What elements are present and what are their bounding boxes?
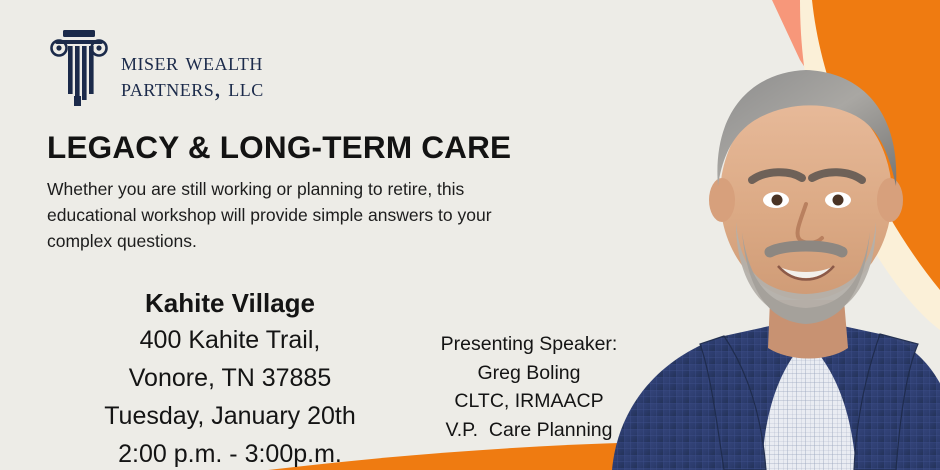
description-line-3: complex questions. [47,228,547,254]
speaker-block: Presenting Speaker: Greg Boling CLTC, IR… [404,330,654,444]
event-description: Whether you are still working or plannin… [47,176,547,254]
venue-block: Kahite Village 400 Kahite Trail, Vonore,… [40,285,420,470]
ear-right [877,178,903,222]
ionic-column-icon [47,26,111,108]
moustache [770,246,842,252]
venue-city-state-zip: Vonore, TN 37885 [40,359,420,397]
speaker-title: V.P. Care Planning [404,416,654,445]
brand-name-line1: Miser Wealth [121,49,264,75]
event-banner: Miser Wealth Partners, LLC LEGACY & LONG… [0,0,940,470]
speaker-name: Greg Boling [404,359,654,388]
ear-left [709,178,735,222]
brand-name-line2: Partners, LLC [121,75,264,101]
brand-wordmark: Miser Wealth Partners, LLC [121,33,264,101]
description-line-2: educational workshop will provide simple… [47,202,547,228]
pupil-right [833,195,844,206]
description-line-1: Whether you are still working or plannin… [47,176,547,202]
speaker-credentials: CLTC, IRMAACP [404,387,654,416]
brand-logo: Miser Wealth Partners, LLC [47,26,264,108]
event-time: 2:00 p.m. - 3:00p.m. [40,435,420,470]
pupil-left [772,195,783,206]
page-title: LEGACY & LONG-TERM CARE [47,129,511,166]
speaker-label: Presenting Speaker: [404,330,654,359]
venue-street: 400 Kahite Trail, [40,321,420,359]
event-date: Tuesday, January 20th [40,397,420,435]
venue-name: Kahite Village [40,285,420,321]
